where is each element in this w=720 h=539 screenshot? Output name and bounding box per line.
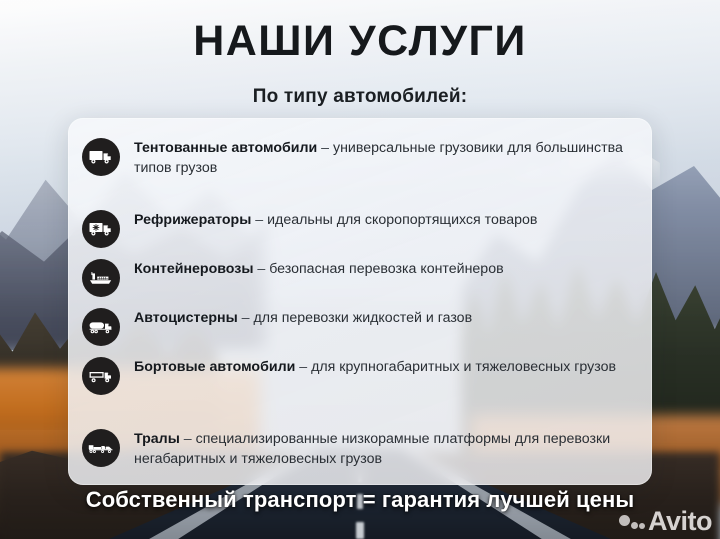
service-term: Автоцистерны [134, 310, 238, 326]
list-item-text: Тентованные автомобили – универсальные г… [134, 137, 634, 178]
list-item: Тралы – специализированные низкорамные п… [82, 423, 634, 495]
list-item: Контейнеровозы – безопасная перевозка ко… [82, 253, 634, 302]
service-term: Рефрижераторы [134, 212, 251, 228]
service-separator: – [251, 212, 267, 228]
services-card: Тентованные автомобили – универсальные г… [68, 118, 652, 485]
list-item: Автоцистерны – для перевозки жидкостей и… [82, 302, 634, 351]
refrigerator-truck-icon [82, 210, 120, 248]
service-term: Бортовые автомобили [134, 359, 295, 375]
list-item-text: Контейнеровозы – безопасная перевозка ко… [134, 258, 504, 280]
service-description: специализированные низкорамные платформы… [134, 431, 610, 467]
box-truck-icon [82, 138, 120, 176]
page-subtitle: По типу автомобилей: [0, 86, 720, 108]
service-term: Тентованные автомобили [134, 140, 317, 156]
list-item-text: Автоцистерны – для перевозки жидкостей и… [134, 307, 472, 329]
road-dash [356, 522, 364, 539]
service-separator: – [238, 310, 254, 326]
service-description: безопасная перевозка контейнеров [269, 261, 503, 277]
promo-banner: НАШИ УСЛУГИ По типу автомобилей: Тентова… [0, 0, 720, 539]
service-term: Тралы [134, 431, 180, 447]
list-item: Рефрижераторы – идеальны для скоропортящ… [82, 204, 634, 253]
flatbed-truck-icon [82, 357, 120, 395]
service-separator: – [317, 140, 333, 156]
list-item-text: Рефрижераторы – идеальны для скоропортящ… [134, 209, 537, 231]
tanker-truck-icon [82, 308, 120, 346]
service-description: для крупногабаритных и тяжеловесных груз… [311, 359, 616, 375]
list-item: Бортовые автомобили – для крупногабаритн… [82, 351, 634, 423]
avito-logo-icon [619, 511, 645, 533]
avito-watermark: Avito [619, 508, 712, 535]
container-ship-icon [82, 259, 120, 297]
service-separator: – [253, 261, 269, 277]
service-description: для перевозки жидкостей и газов [254, 310, 473, 326]
service-separator: – [295, 359, 311, 375]
service-description: идеальны для скоропортящихся товаров [267, 212, 537, 228]
avito-wordmark: Avito [648, 508, 712, 535]
service-term: Контейнеровозы [134, 261, 253, 277]
service-separator: – [180, 431, 196, 447]
list-item-text: Тралы – специализированные низкорамные п… [134, 428, 634, 469]
list-item: Тентованные автомобили – универсальные г… [82, 132, 634, 204]
footer-tagline: Собственный транспорт = гарантия лучшей … [0, 487, 720, 513]
list-item-text: Бортовые автомобили – для крупногабаритн… [134, 356, 616, 378]
lowboy-trailer-icon [82, 429, 120, 467]
page-title: НАШИ УСЛУГИ [0, 20, 720, 63]
services-list: Тентованные автомобили – универсальные г… [82, 132, 634, 495]
